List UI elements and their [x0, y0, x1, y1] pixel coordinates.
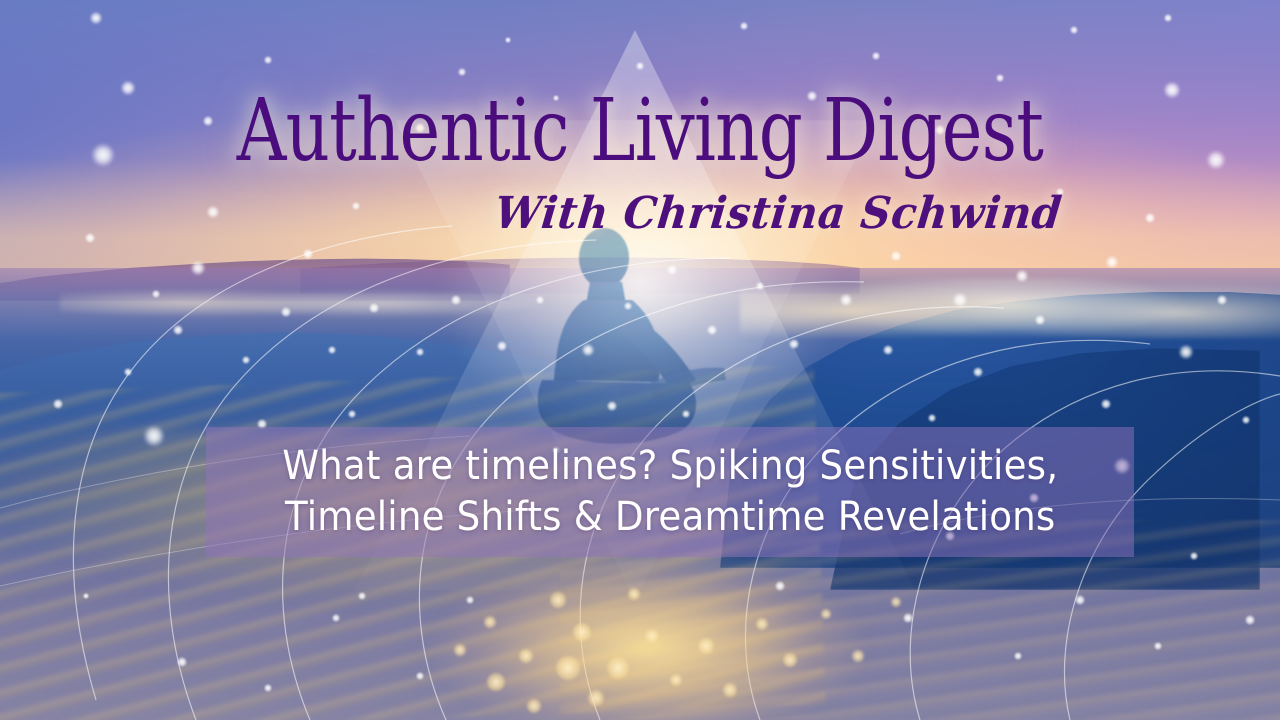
sun-sparkle-dot [698, 638, 714, 654]
sun-sparkle-dot [454, 644, 466, 656]
sun-sparkle-dot [556, 656, 580, 680]
sun-sparkle-dot [527, 699, 541, 713]
sun-sparkle-dot [519, 649, 533, 663]
video-thumbnail: Authentic Living Digest With Christina S… [0, 0, 1280, 720]
sun-sparkle-dot [607, 657, 629, 679]
sun-sparkle-dot [821, 609, 831, 619]
sun-sparkle-dot [484, 616, 496, 628]
sun-sparkle-dot [852, 650, 864, 662]
sun-sparkle-dot [550, 592, 566, 608]
sun-sparkle-dot [628, 588, 640, 600]
sun-sparkle-dot [487, 673, 505, 691]
sun-sparkle-dot [573, 623, 591, 641]
sun-sparkle-dot [756, 618, 768, 630]
sun-reflection-sparkles [430, 540, 950, 720]
episode-title-band [206, 427, 1134, 557]
sun-sparkle-dot [783, 653, 797, 667]
sun-sparkle-dot [891, 597, 901, 607]
sun-sparkle-dot [588, 690, 604, 706]
sun-sparkle-dot [645, 629, 659, 643]
sun-sparkle-dot [670, 674, 682, 686]
sun-sparkle-dot [723, 683, 737, 697]
